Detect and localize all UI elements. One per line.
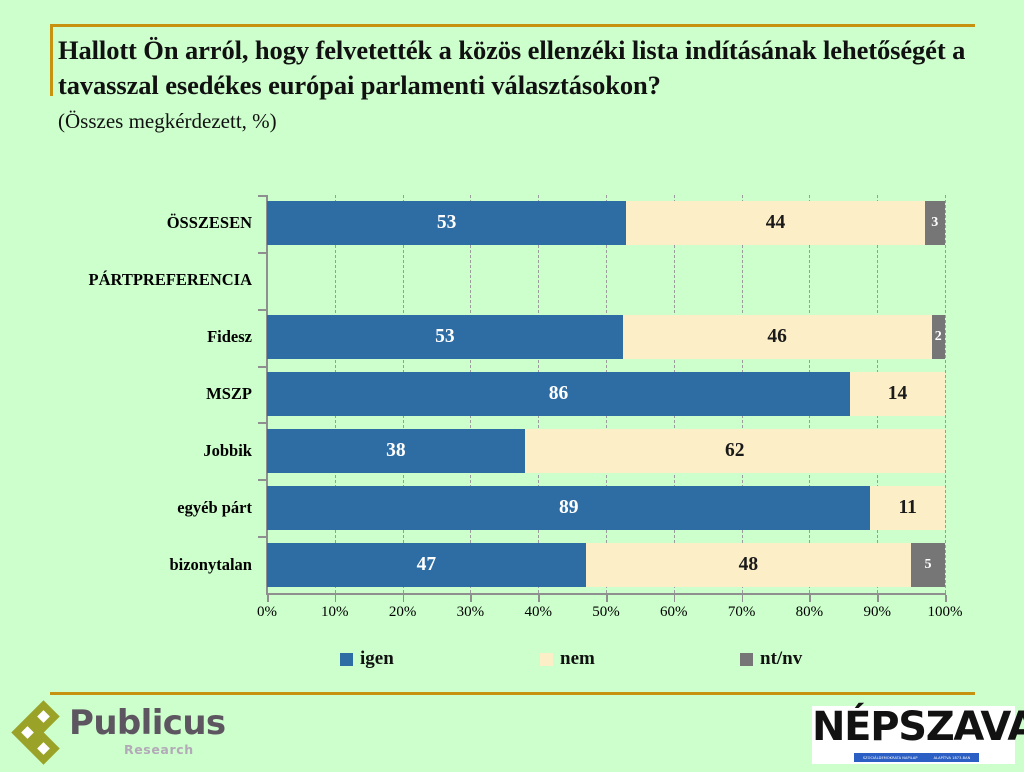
x-axis-tick-label: 80% <box>796 604 824 621</box>
bar-segment-igen: 38 <box>267 429 525 473</box>
nepszava-strap-right: ALAPÍTVA 1873-BAN <box>934 756 971 760</box>
x-axis-tick <box>606 595 608 602</box>
legend-label: nt/nv <box>760 648 802 670</box>
legend-swatch-icon <box>340 653 353 666</box>
nepszava-strap-left: SZOCIÁLDEMOKRATA NAPILAP <box>863 756 918 760</box>
bar-row: 3862 <box>267 429 945 473</box>
bar-segment-nt-nv: 2 <box>932 315 945 359</box>
bar-row: 8614 <box>267 372 945 416</box>
gridline <box>945 195 946 593</box>
nepszava-logo: NÉPSZAVA SZOCIÁLDEMOKRATA NAPILAP ALAPÍT… <box>812 706 1015 764</box>
title-block: Hallott Ön arról, hogy felvetették a köz… <box>58 33 988 134</box>
y-axis-tick <box>258 252 267 254</box>
footer-rule <box>50 692 975 695</box>
bar-segment-nt-nv: 5 <box>911 543 945 587</box>
publicus-logo: Publicus Research <box>14 703 214 765</box>
x-axis-tick-label: 100% <box>928 604 963 621</box>
legend-swatch-icon <box>740 653 753 666</box>
legend-item-nem[interactable]: nem <box>540 648 595 670</box>
x-axis-tick <box>742 595 744 602</box>
x-axis-tick <box>674 595 676 602</box>
x-axis-tick <box>809 595 811 602</box>
header-rule-left <box>50 24 53 96</box>
legend-swatch-icon <box>540 653 553 666</box>
y-axis-tick <box>258 536 267 538</box>
bar-segment-igen: 53 <box>267 315 623 359</box>
page-title: Hallott Ön arról, hogy felvetették a köz… <box>58 33 988 103</box>
publicus-diamond-icon <box>14 705 72 763</box>
x-axis-tick-label: 90% <box>863 604 891 621</box>
x-axis-tick <box>470 595 472 602</box>
bar-segment-nem: 11 <box>870 486 945 530</box>
y-axis-tick <box>258 195 267 197</box>
nepszava-wordmark: NÉPSZAVA <box>812 705 1015 750</box>
category-label-jobbik: Jobbik <box>203 443 252 460</box>
category-label-bizonytalan: bizonytalan <box>169 557 252 574</box>
category-label-egy-b-p-rt: egyéb párt <box>177 500 252 517</box>
header-rule-top <box>50 24 975 27</box>
bar-segment-nem: 62 <box>525 429 945 473</box>
bar-segment-nem: 48 <box>586 543 911 587</box>
category-label-p-rtpreferencia: PÁRTPREFERENCIA <box>88 272 252 289</box>
legend-label: igen <box>360 648 394 670</box>
bar-row: 8911 <box>267 486 945 530</box>
category-label--sszesen: ÖSSZESEN <box>167 215 252 232</box>
page-subtitle: (Összes megkérdezett, %) <box>58 109 988 133</box>
publicus-tagline: Research <box>124 742 194 757</box>
x-axis-tick <box>538 595 540 602</box>
plot-area: 534435346286143862891147485 <box>267 195 945 593</box>
y-axis-tick <box>258 309 267 311</box>
x-axis-tick <box>877 595 879 602</box>
y-axis-tick <box>258 479 267 481</box>
x-axis-tick-label: 0% <box>257 604 277 621</box>
x-axis-tick <box>403 595 405 602</box>
bar-segment-nem: 46 <box>623 315 932 359</box>
x-axis-tick-label: 40% <box>524 604 552 621</box>
bar-segment-igen: 53 <box>267 201 626 245</box>
y-axis-tick <box>258 366 267 368</box>
bar-segment-nem: 44 <box>626 201 924 245</box>
bar-segment-nt-nv: 3 <box>925 201 945 245</box>
publicus-wordmark: Publicus <box>69 706 226 740</box>
x-axis-tick-label: 70% <box>728 604 756 621</box>
x-axis-tick-label: 30% <box>457 604 485 621</box>
chart-container: 534435346286143862891147485 0%10%20%30%4… <box>0 190 1024 610</box>
chart-legend: igennemnt/nv <box>340 648 860 674</box>
bar-row: 47485 <box>267 543 945 587</box>
category-label-fidesz: Fidesz <box>207 329 252 346</box>
x-axis-tick-label: 60% <box>660 604 688 621</box>
bar-row: 53443 <box>267 201 945 245</box>
legend-label: nem <box>560 648 595 670</box>
x-axis-tick-label: 50% <box>592 604 620 621</box>
bar-segment-nem: 14 <box>850 372 945 416</box>
x-axis-tick <box>267 595 269 602</box>
bar-segment-igen: 86 <box>267 372 850 416</box>
nepszava-strapline: SZOCIÁLDEMOKRATA NAPILAP ALAPÍTVA 1873-B… <box>854 753 979 762</box>
category-label-mszp: MSZP <box>206 386 252 403</box>
x-axis-tick-label: 10% <box>321 604 349 621</box>
bar-segment-igen: 47 <box>267 543 586 587</box>
y-axis-tick <box>258 422 267 424</box>
x-axis-tick <box>945 595 947 602</box>
x-axis-tick-label: 20% <box>389 604 417 621</box>
bar-segment-igen: 89 <box>267 486 870 530</box>
legend-item-nt-nv[interactable]: nt/nv <box>740 648 802 670</box>
legend-item-igen[interactable]: igen <box>340 648 394 670</box>
bar-row: 53462 <box>267 315 945 359</box>
x-axis-tick <box>335 595 337 602</box>
